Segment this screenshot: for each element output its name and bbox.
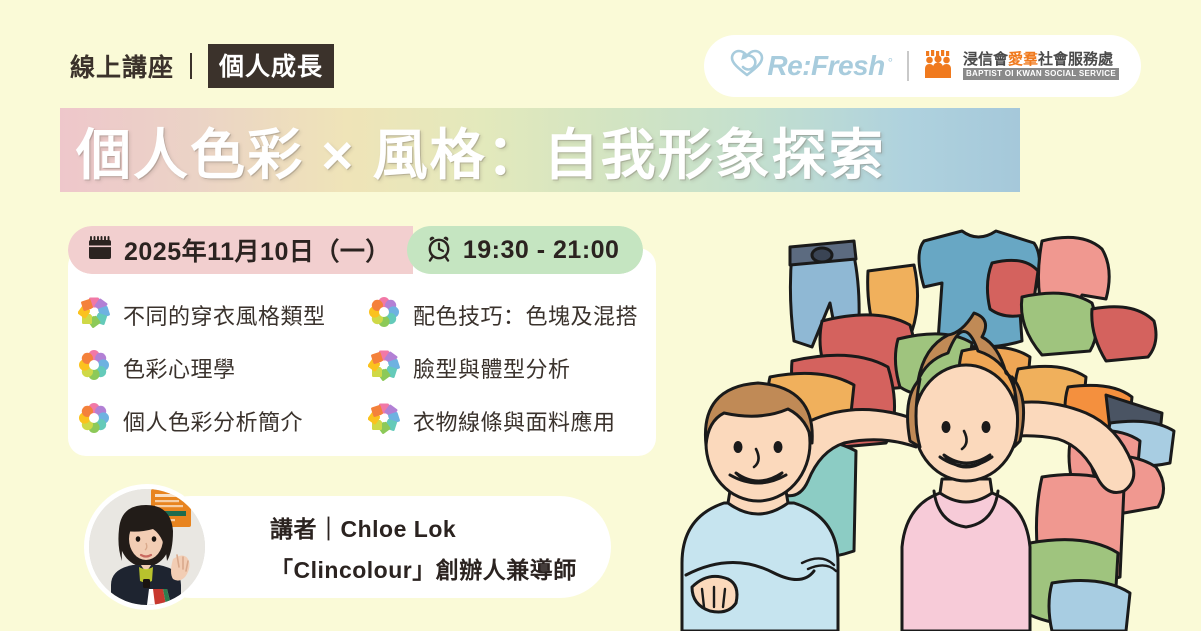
topic-label: 不同的穿衣風格類型 <box>123 299 326 331</box>
list-item: 色彩心理學 <box>78 349 368 386</box>
list-item: 臉型與體型分析 <box>368 349 648 386</box>
topic-label: 衣物線條與面料應用 <box>413 405 616 437</box>
speaker-title: 「Clincolour」創辦人兼導師 <box>270 551 577 585</box>
speaker-photo-avatar <box>84 484 210 610</box>
topic-label: 個人色彩分析簡介 <box>123 405 303 437</box>
bokss-chinese-name: 浸信會愛羣社會服務處 <box>963 52 1119 67</box>
refresh-wordmark: Re:Fresh <box>767 50 884 82</box>
bokss-logo: 浸信會愛羣社會服務處 BAPTIST OI KWAN SOCIAL SERVIC… <box>923 49 1119 84</box>
color-flower-rosette-icon <box>78 402 110 439</box>
logo-bar: Re:Fresh ° <box>704 35 1141 97</box>
bokss-cn-accent: 愛羣 <box>1008 51 1038 68</box>
date-time-row: 2025年11月10日（一） 19:30 - 21:00 <box>68 226 643 274</box>
speaker-name: 講者｜Chloe Lok <box>270 510 577 544</box>
vertical-divider-icon <box>190 53 192 79</box>
logo-divider-icon <box>907 51 909 81</box>
date-pill: 2025年11月10日（一） <box>68 226 413 274</box>
calendar-icon <box>86 234 114 267</box>
top-bar: 線上講座 個人成長 Re:Fresh ° <box>70 40 1141 92</box>
people-group-icon <box>923 49 957 84</box>
topic-list: 不同的穿衣風格類型 配色技巧 <box>78 288 656 447</box>
bokss-cn-part1: 浸信會 <box>963 51 1008 68</box>
title-banner: 個人色彩 × 風格：自我形象探索 <box>60 108 1020 192</box>
topic-label: 臉型與體型分析 <box>413 352 571 384</box>
topic-label: 配色技巧：色塊及混搭 <box>413 299 638 331</box>
page-title: 個人色彩 × 風格：自我形象探索 <box>76 110 886 190</box>
speaker-block: 講者｜Chloe Lok 「Clincolour」創辦人兼導師 <box>84 484 210 610</box>
color-star-rosette-icon <box>368 402 400 439</box>
bokss-english-name: BAPTIST OI KWAN SOCIAL SERVICE <box>963 68 1119 80</box>
event-date: 2025年11月10日（一） <box>124 232 391 268</box>
heart-refresh-icon <box>730 49 764 84</box>
refresh-trademark: ° <box>888 55 893 70</box>
list-item: 不同的穿衣風格類型 <box>78 296 368 333</box>
speaker-info-pill: 講者｜Chloe Lok 「Clincolour」創辦人兼導師 <box>140 496 611 598</box>
color-flower-rosette-icon <box>78 349 110 386</box>
topic-label: 色彩心理學 <box>123 352 236 384</box>
color-flower-rosette-icon <box>368 296 400 333</box>
time-pill: 19:30 - 21:00 <box>407 226 644 274</box>
poster-root: 線上講座 個人成長 Re:Fresh ° <box>0 0 1201 631</box>
eyebrow-tag: 個人成長 <box>208 44 334 88</box>
alarm-clock-icon <box>425 234 453 267</box>
two-people-with-clothes-pile-illustration <box>662 191 1201 631</box>
list-item: 衣物線條與面料應用 <box>368 402 648 439</box>
refresh-logo: Re:Fresh ° <box>730 49 893 84</box>
bokss-cn-part2: 社會服務處 <box>1038 51 1113 68</box>
list-item: 配色技巧：色塊及混搭 <box>368 296 648 333</box>
eyebrow-label: 線上講座 <box>70 48 174 84</box>
eyebrow-group: 線上講座 個人成長 <box>70 44 334 88</box>
color-star-rosette-icon <box>78 296 110 333</box>
bokss-text-block: 浸信會愛羣社會服務處 BAPTIST OI KWAN SOCIAL SERVIC… <box>963 52 1119 80</box>
event-time: 19:30 - 21:00 <box>463 236 620 265</box>
list-item: 個人色彩分析簡介 <box>78 402 368 439</box>
color-star-rosette-icon <box>368 349 400 386</box>
